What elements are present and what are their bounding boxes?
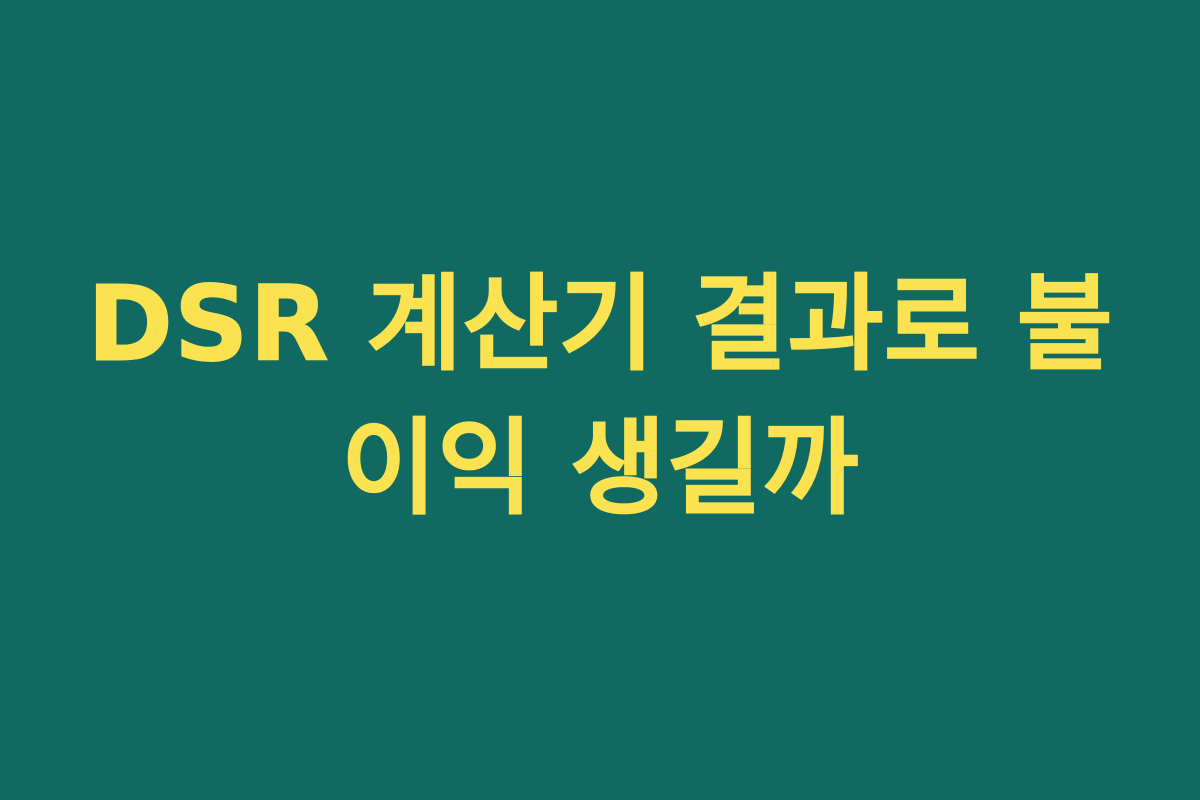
title-card: DSR 계산기 결과로 불이익 생길까 — [0, 0, 1200, 800]
title-block: DSR 계산기 결과로 불이익 생길까 — [80, 253, 1120, 540]
page-title: DSR 계산기 결과로 불이익 생길까 — [80, 253, 1120, 540]
